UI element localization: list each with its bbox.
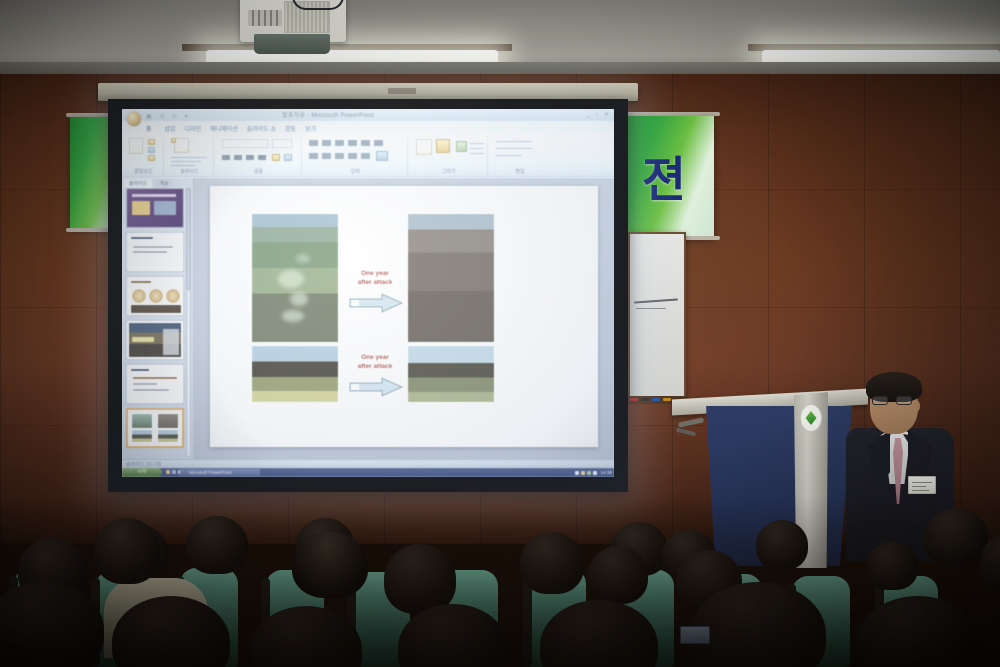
group-label-slides: 슬라이드 <box>166 168 213 175</box>
copy-icon[interactable] <box>148 147 155 153</box>
tray-icon-2[interactable] <box>581 471 585 475</box>
tray-icon-4[interactable] <box>593 471 597 475</box>
align-left-icon[interactable] <box>309 153 318 159</box>
window-buttons[interactable]: _ ▫ ✕ <box>587 111 611 118</box>
format-painter-icon[interactable] <box>148 155 155 161</box>
pane-tab-slides[interactable]: 슬라이드 <box>124 179 152 188</box>
pane-tab-outline[interactable]: 개요 <box>154 179 173 188</box>
arrange-icon[interactable] <box>436 139 450 153</box>
tab-view[interactable]: 보기 <box>305 124 316 133</box>
marker-orange <box>663 398 671 401</box>
quicklaunch-icon-1[interactable] <box>166 470 170 474</box>
green-banner-right: 젼 <box>624 116 714 238</box>
italic-icon[interactable] <box>234 155 242 160</box>
ribbon-group-drawing[interactable]: 그리기 <box>410 135 488 175</box>
thumbnail-slide-11[interactable] <box>126 232 184 272</box>
marker-red <box>630 398 638 401</box>
taskbar-item-powerpoint[interactable]: Microsoft PowerPoint <box>180 469 260 476</box>
font-family-dropdown[interactable] <box>222 139 268 148</box>
thumbnail-slide-13[interactable] <box>126 320 184 360</box>
housing-brand-mark <box>388 88 416 94</box>
arrow-top-icon <box>348 292 404 314</box>
ribbon[interactable]: 클립보드 슬라이드 <box>122 133 614 177</box>
seated-audience <box>0 496 1000 667</box>
slide-thumbnail-pane[interactable]: 슬라이드 개요 <box>122 178 194 459</box>
annotation-bottom-line2: after attack <box>358 363 393 370</box>
marker-black <box>641 398 649 401</box>
quicklaunch-icon-2[interactable] <box>172 470 176 474</box>
green-diamond-leaf-logo <box>800 404 822 432</box>
ribbon-tabs[interactable]: 홈 삽입 디자인 애니메이션 슬라이드 쇼 검토 보기 <box>142 123 316 133</box>
ribbon-group-editing[interactable]: 편집 <box>490 135 550 175</box>
marker-blue <box>652 398 660 401</box>
current-slide[interactable]: One year after attack <box>210 186 598 447</box>
paste-icon[interactable] <box>129 138 143 154</box>
align-center-icon[interactable] <box>322 153 331 159</box>
start-button[interactable]: 시작 <box>122 468 162 477</box>
photo-after-bottom-right <box>408 346 494 402</box>
find-row[interactable] <box>496 141 532 142</box>
pane-tab-bar[interactable]: 슬라이드 개요 <box>124 179 174 188</box>
tab-design[interactable]: 디자인 <box>185 124 202 133</box>
decrease-indent-icon[interactable] <box>335 140 344 146</box>
tab-review[interactable]: 검토 <box>285 124 296 133</box>
tab-insert[interactable]: 삽입 <box>165 124 176 133</box>
quick-access-toolbar[interactable]: ▣ ↺ ↻ ▾ <box>146 113 191 120</box>
tray-icon-3[interactable] <box>587 471 591 475</box>
whiteboard-writing-2 <box>636 308 666 309</box>
thumbnail-slide-12[interactable] <box>126 276 184 316</box>
photo-before-bottom-left <box>252 346 338 402</box>
windows-taskbar[interactable]: 시작 Microsoft PowerPoint 14:38 <box>122 468 614 477</box>
projected-image-surface: 발표자료 - Microsoft PowerPoint _ ▫ ✕ ▣ ↺ ↻ … <box>122 109 614 477</box>
underline-icon[interactable] <box>246 155 254 160</box>
shape-effects-row[interactable] <box>470 153 484 154</box>
tray-icon-1[interactable] <box>575 471 579 475</box>
banner-right-text: 젼 <box>636 140 692 210</box>
ribbon-group-clipboard[interactable]: 클립보드 <box>124 135 164 175</box>
annotation-top: One year after attack <box>344 270 406 288</box>
text-direction-icon[interactable] <box>374 140 383 146</box>
layout-row[interactable] <box>171 157 207 158</box>
thumbnail-slide-14[interactable] <box>126 364 184 404</box>
section-row[interactable] <box>171 165 195 166</box>
select-row[interactable] <box>496 155 522 156</box>
thumbnail-list[interactable] <box>126 188 184 448</box>
font-size-dropdown[interactable] <box>272 139 292 148</box>
bold-icon[interactable] <box>222 155 230 160</box>
slide-editing-area[interactable]: One year after attack <box>194 178 614 459</box>
replace-row[interactable] <box>496 148 532 149</box>
align-right-icon[interactable] <box>335 153 344 159</box>
arrow-bottom-icon <box>348 376 404 398</box>
lecture-hall-photo: 젼 발표자료 - Microsoft PowerPoint _ ▫ ✕ ▣ ↺ … <box>0 0 1000 667</box>
ribbon-group-slides[interactable]: 슬라이드 <box>166 135 214 175</box>
annotation-bottom-line1: One year <box>361 354 389 361</box>
projector-cable <box>292 0 344 10</box>
annotation-bottom: One year after attack <box>344 354 406 372</box>
leaf-shape-icon <box>806 411 817 425</box>
group-label-drawing: 그리기 <box>410 168 487 175</box>
ribbon-group-font[interactable]: 글꼴 <box>216 135 302 175</box>
annotation-top-line1: One year <box>361 270 389 277</box>
powerpoint-title-bar: 발표자료 - Microsoft PowerPoint _ ▫ ✕ <box>122 109 614 121</box>
group-label-font: 글꼴 <box>216 168 301 175</box>
eyeglasses-icon <box>872 396 914 405</box>
projection-screen: 발표자료 - Microsoft PowerPoint _ ▫ ✕ ▣ ↺ ↻ … <box>108 99 628 492</box>
group-label-editing: 편집 <box>490 168 550 175</box>
shadow-icon[interactable] <box>258 155 266 160</box>
photo-after-top-right <box>408 214 494 342</box>
shapes-gallery-icon[interactable] <box>416 139 432 155</box>
clear-format-icon[interactable] <box>284 154 292 161</box>
taskbar-clock: 14:38 <box>601 470 612 475</box>
tab-animations[interactable]: 애니메이션 <box>210 124 238 133</box>
scrollbar-thumb[interactable] <box>187 189 190 290</box>
thumbnail-slide-10[interactable] <box>126 188 184 228</box>
powerpoint-window[interactable]: 발표자료 - Microsoft PowerPoint _ ▫ ✕ ▣ ↺ ↻ … <box>122 109 614 477</box>
projector-lens-housing <box>254 34 330 54</box>
annotation-top-line2: after attack <box>358 279 393 286</box>
audience-shadow-overlay <box>0 496 1000 667</box>
group-label-paragraph: 단락 <box>304 168 407 175</box>
whiteboard-writing <box>634 298 678 303</box>
powerpoint-title-text: 발표자료 - Microsoft PowerPoint <box>282 110 374 119</box>
group-label-clipboard: 클립보드 <box>124 168 163 175</box>
whiteboard <box>628 232 686 398</box>
quick-styles-icon[interactable] <box>456 141 467 152</box>
convert-smartart-icon[interactable] <box>376 151 388 161</box>
thumbnail-pane-scrollbar[interactable] <box>186 188 191 457</box>
projector-mount-knobs <box>248 10 282 26</box>
shape-outline-row[interactable] <box>470 148 484 149</box>
thumbnail-slide-15[interactable] <box>126 408 184 448</box>
photo-before-top-left <box>252 214 338 342</box>
font-color-icon[interactable] <box>272 154 280 161</box>
justify-icon[interactable] <box>348 153 357 159</box>
shape-fill-row[interactable] <box>470 143 484 144</box>
bullets-icon[interactable] <box>309 140 318 146</box>
reset-row[interactable] <box>171 161 201 162</box>
new-slide-icon[interactable] <box>174 138 189 153</box>
slide-badge-icon[interactable] <box>171 138 176 143</box>
line-spacing-icon[interactable] <box>361 140 370 146</box>
tab-home[interactable]: 홈 <box>142 123 156 134</box>
office-orb-icon[interactable] <box>126 111 142 127</box>
ribbon-group-paragraph[interactable]: 단락 <box>304 135 408 175</box>
numbering-icon[interactable] <box>322 140 331 146</box>
tab-slideshow[interactable]: 슬라이드 쇼 <box>247 124 276 133</box>
status-slide-counter: 슬라이드 15 / 28 <box>126 461 161 468</box>
columns-icon[interactable] <box>361 153 370 159</box>
increase-indent-icon[interactable] <box>348 140 357 146</box>
name-badge <box>908 476 936 494</box>
system-tray[interactable]: 14:38 <box>575 469 612 476</box>
cut-icon[interactable] <box>148 139 155 145</box>
